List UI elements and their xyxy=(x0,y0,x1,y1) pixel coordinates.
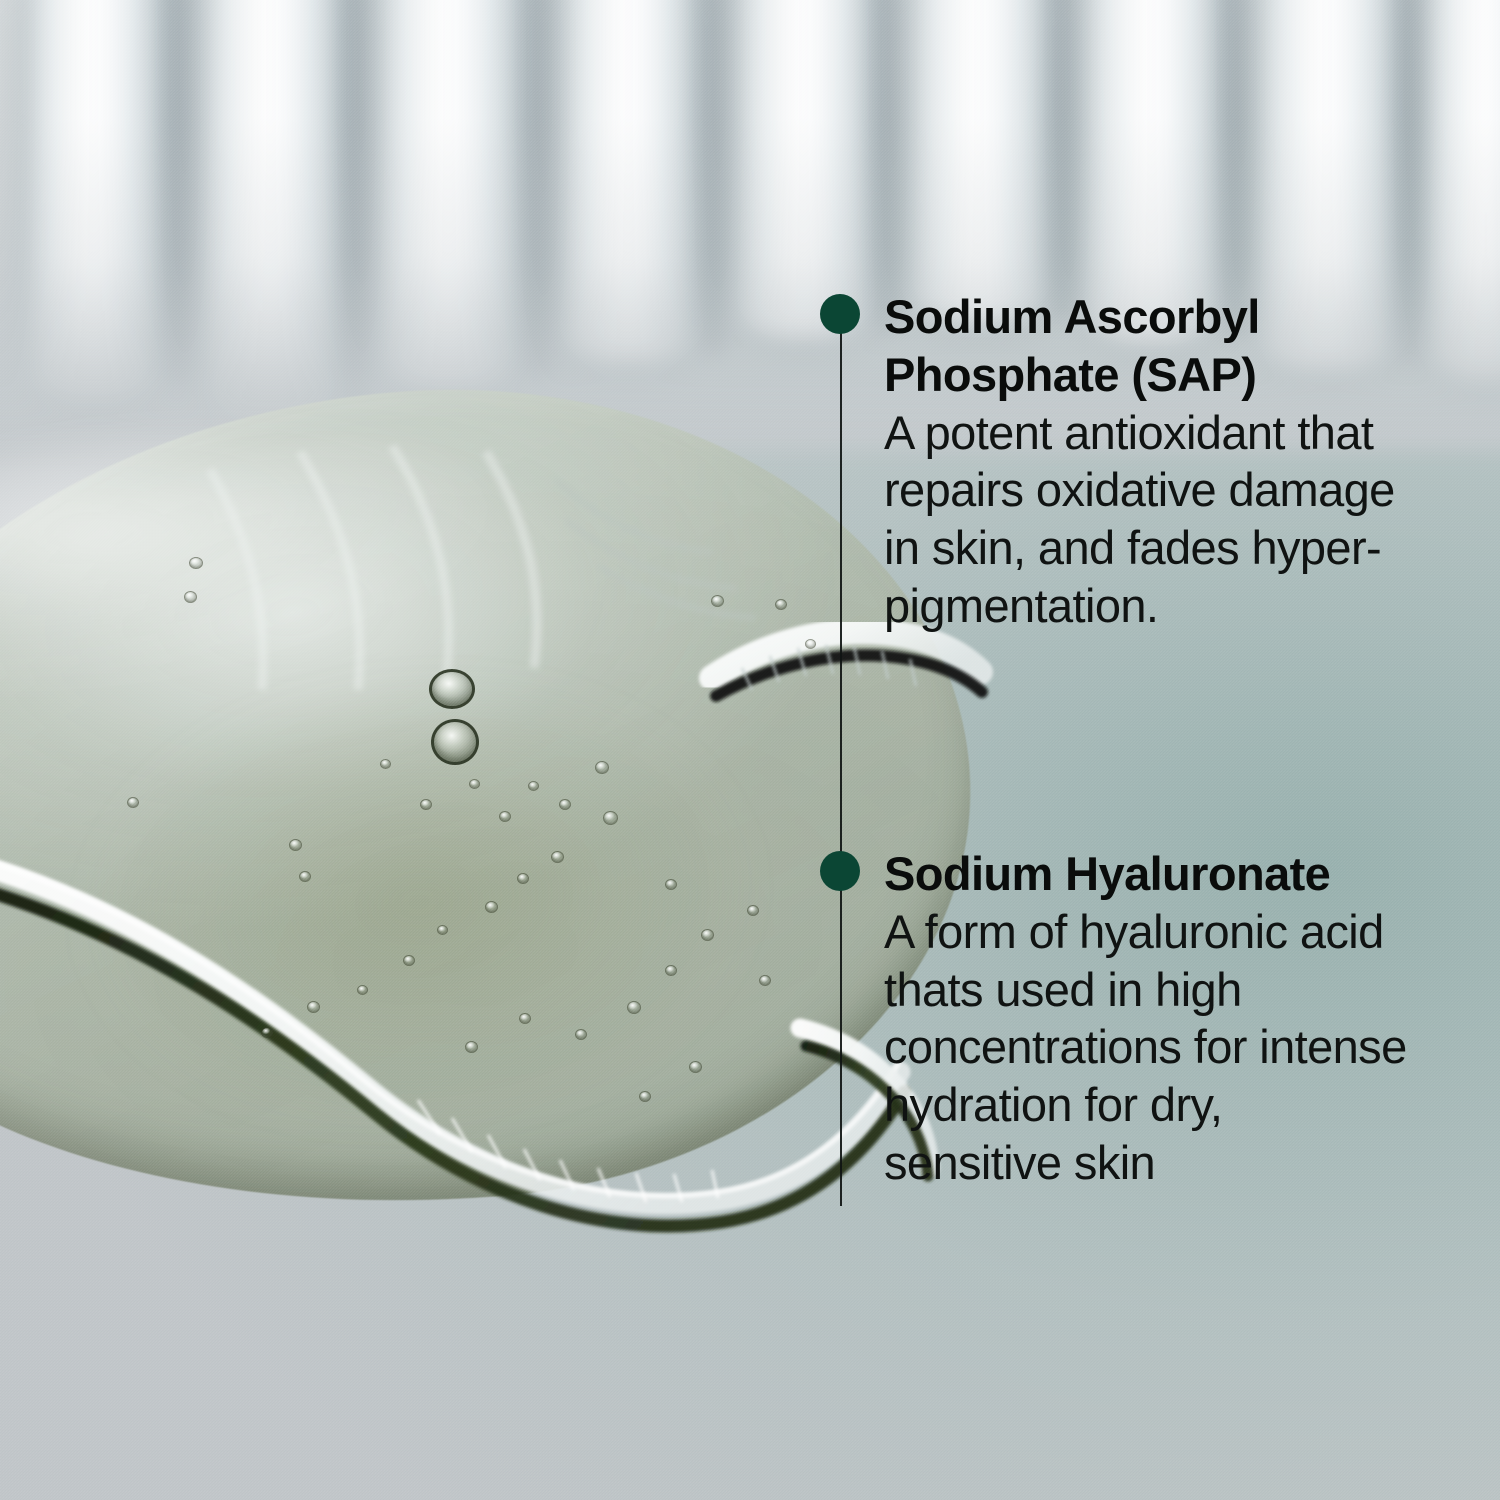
callout-description-2: A form of hyaluronic acid thats used in … xyxy=(884,903,1412,1192)
callout-text-block-2: Sodium Hyaluronate A form of hyaluronic … xyxy=(884,845,1412,1192)
product-ingredient-infographic: Sodium Ascorbyl Phosphate (SAP) A potent… xyxy=(0,0,1500,1500)
callout-text-block-1: Sodium Ascorbyl Phosphate (SAP) A potent… xyxy=(884,288,1412,635)
bullet-dot-icon-2 xyxy=(820,851,860,891)
callout-sodium-ascorbyl-phosphate[interactable]: Sodium Ascorbyl Phosphate (SAP) A potent… xyxy=(820,288,1412,635)
callout-title-2: Sodium Hyaluronate xyxy=(884,845,1412,903)
bullet-dot-icon-1 xyxy=(820,294,860,334)
callout-description-1: A potent antioxidant that repairs oxidat… xyxy=(884,404,1412,635)
callout-title-1: Sodium Ascorbyl Phosphate (SAP) xyxy=(884,288,1412,404)
ingredient-callout-overlay: Sodium Ascorbyl Phosphate (SAP) A potent… xyxy=(0,0,1500,1500)
callout-sodium-hyaluronate[interactable]: Sodium Hyaluronate A form of hyaluronic … xyxy=(820,845,1412,1192)
